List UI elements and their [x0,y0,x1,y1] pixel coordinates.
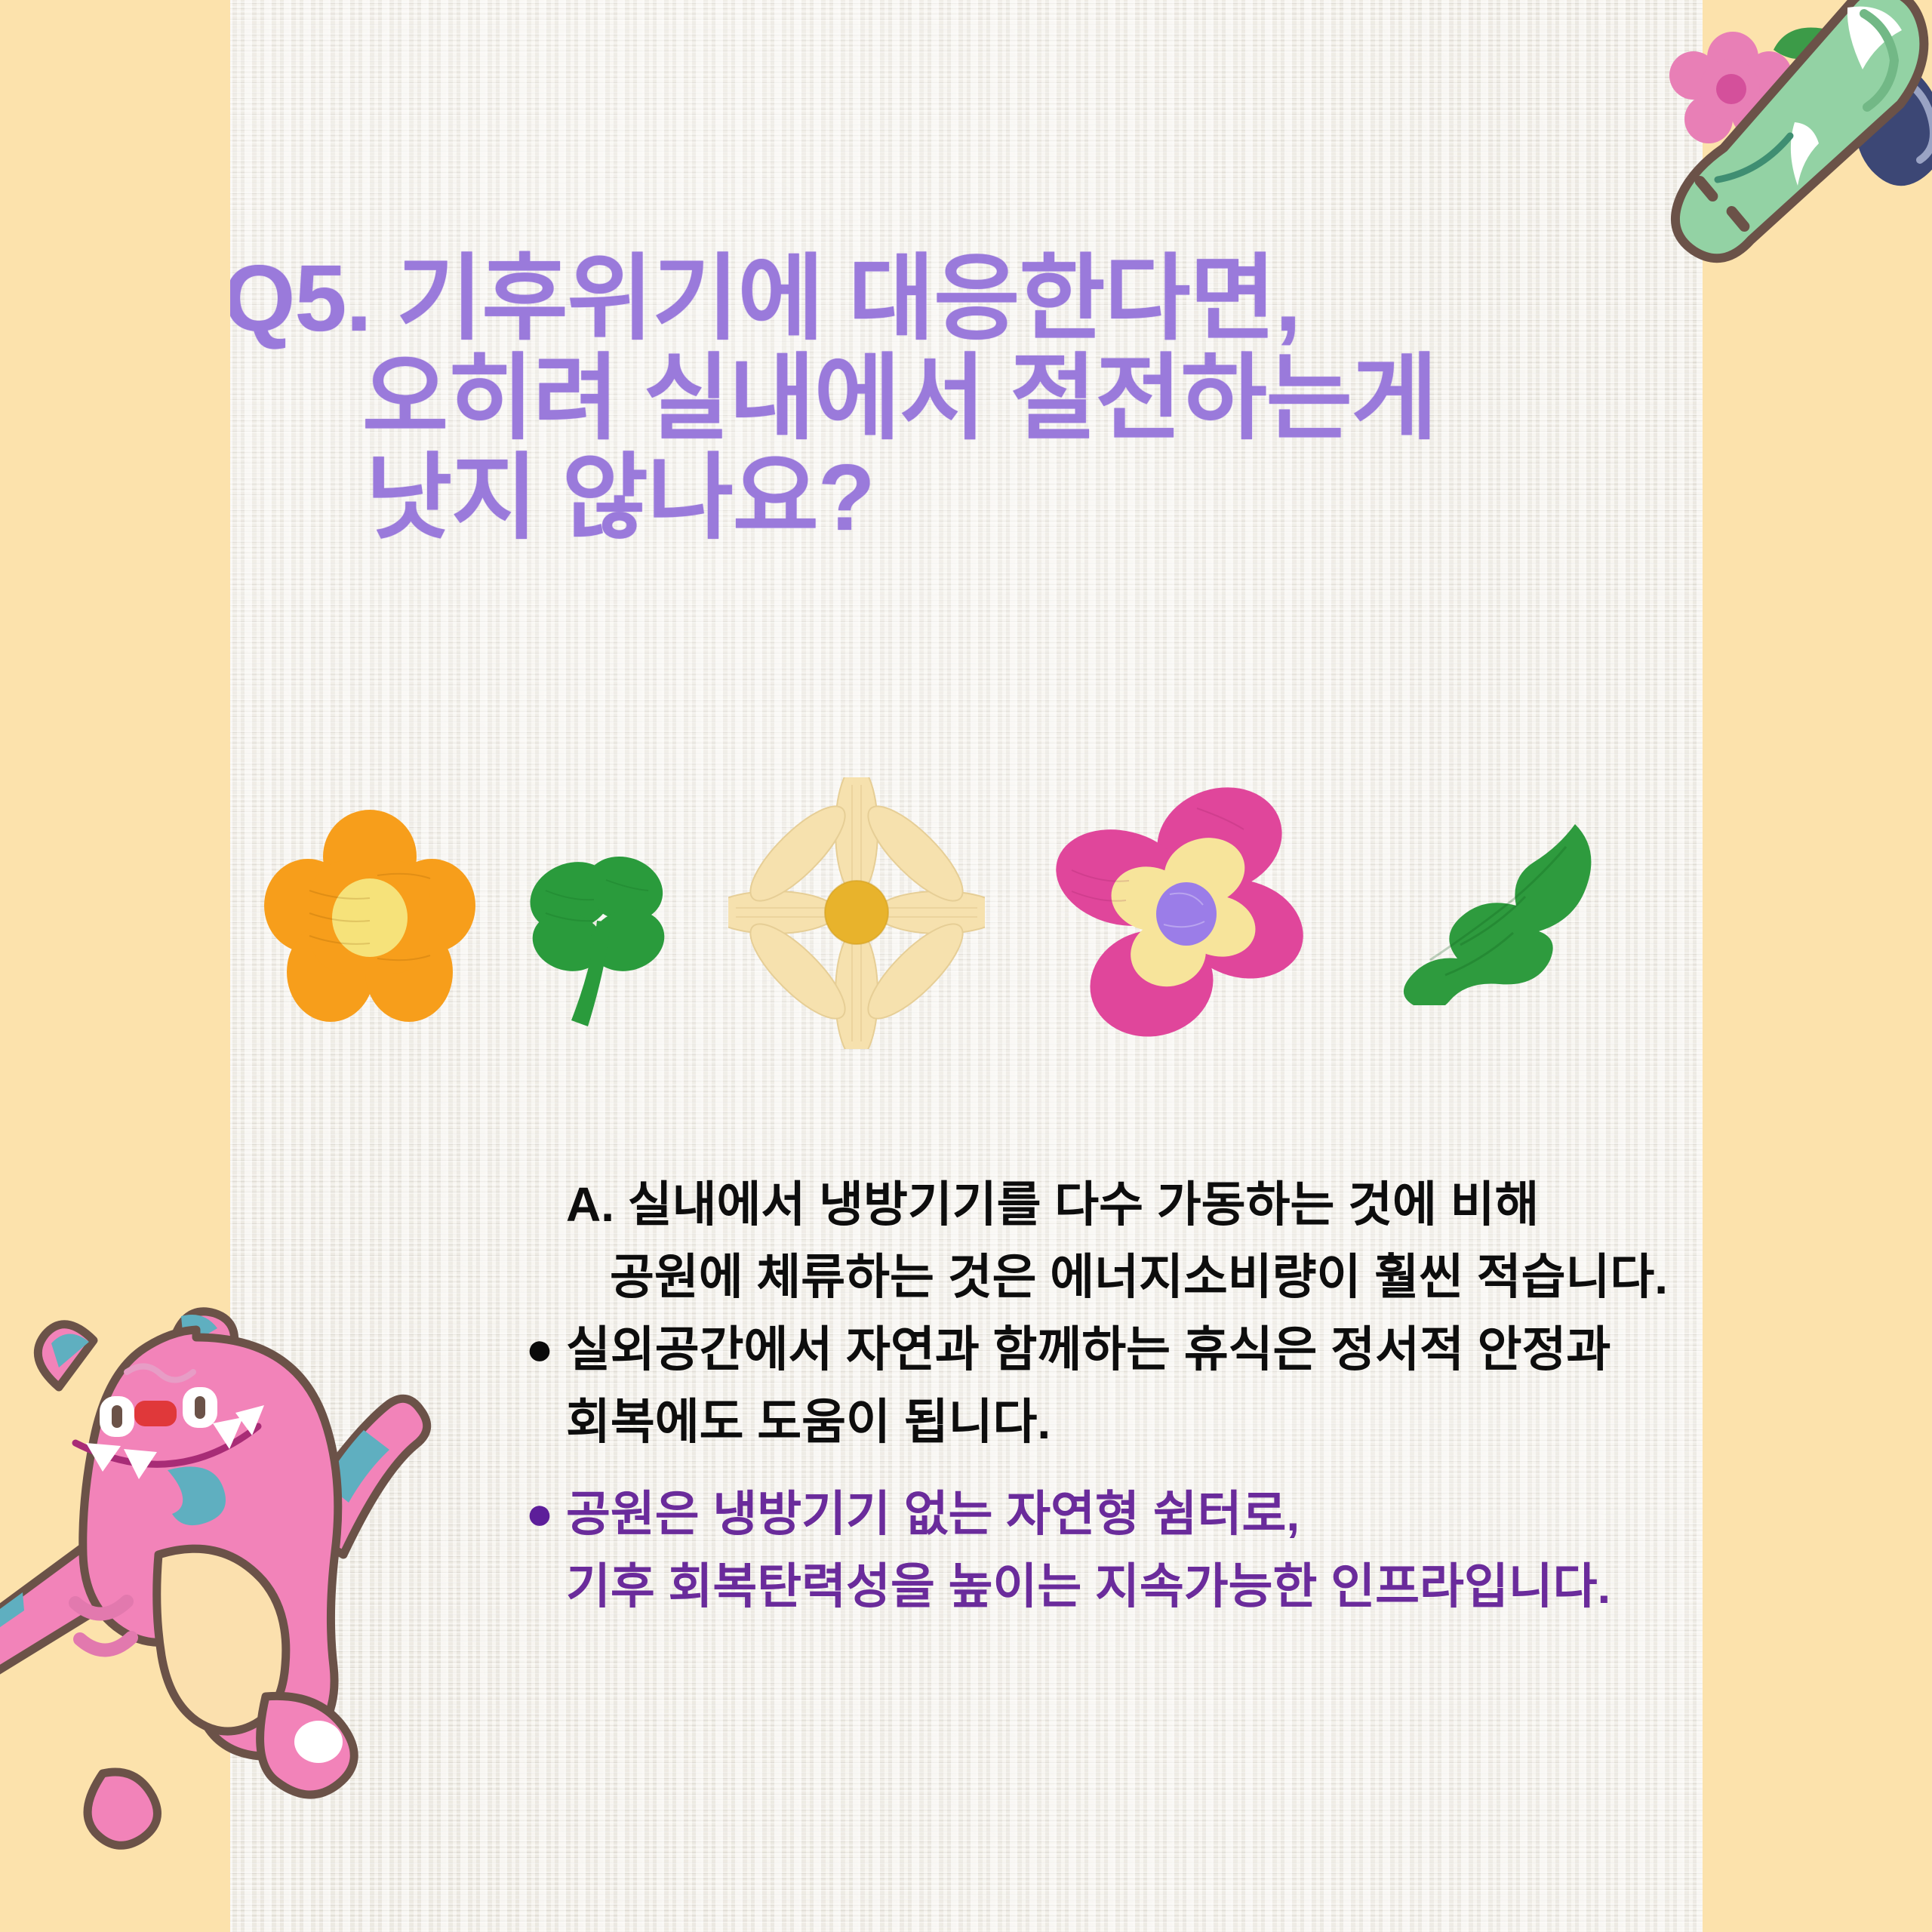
bullet-1-line-1: 실외공간에서 자연과 함께하는 휴식은 정서적 안정과 [566,1313,1703,1386]
title-line-2: 오히려 실내에서 절전하는게 [362,349,1703,448]
canvas-card: Q5. 기후위기에 대응한다면, 오히려 실내에서 절전하는게 낫지 않나요? [230,0,1703,1932]
answer-paragraph-line-1: 실내에서 냉방기기를 다수 가동하는 것에 비해 [628,1177,1540,1232]
answer-body: A. 실내에서 냉방기기를 다수 가동하는 것에 비해 공원에 체류하는 것은 … [566,1168,1703,1623]
green-clover-icon [525,838,668,1026]
pink-monster-character [0,1298,438,1872]
answer-line-1: A. 실내에서 냉방기기를 다수 가동하는 것에 비해 [566,1168,1703,1241]
list-item: ● 공원은 냉방기기 없는 자연형 쉼터로, 기후 회복탄력성을 높이는 지속가… [566,1478,1703,1623]
answer-label: A. [566,1177,614,1232]
answer-paragraph: A. 실내에서 냉방기기를 다수 가동하는 것에 비해 공원에 체류하는 것은 … [566,1168,1703,1313]
answer-paragraph-line-2: 공원에 체류하는 것은 에너지소비량이 훨씬 적습니다. [566,1241,1703,1313]
bullet-marker-purple: ● [522,1478,557,1550]
cream-daisy-icon [728,777,985,1049]
list-item: ● 실외공간에서 자연과 함께하는 휴식은 정서적 안정과 회복에도 도움이 됩… [566,1313,1703,1458]
green-leaf-icon [1377,794,1604,1005]
question-title: Q5. 기후위기에 대응한다면, 오히려 실내에서 절전하는게 낫지 않나요? [230,249,1703,548]
bullet-1-line-2: 회복에도 도움이 됩니다. [566,1386,1703,1458]
green-caterpillar-character [1645,0,1932,302]
orange-flower-icon [264,800,475,1026]
title-line-3: 낫지 않나요? [366,448,1703,548]
flower-divider [230,785,1703,1041]
title-line-1: Q5. 기후위기에 대응한다면, [230,249,1703,349]
bullet-2-line-2: 기후 회복탄력성을 높이는 지속가능한 인프라입니다. [566,1550,1703,1623]
pink-flower-icon [1049,781,1306,1038]
spacer [566,1458,1703,1478]
bullet-2-line-1: 공원은 냉방기기 없는 자연형 쉼터로, [566,1478,1703,1550]
bullet-marker-dark: ● [522,1313,557,1386]
